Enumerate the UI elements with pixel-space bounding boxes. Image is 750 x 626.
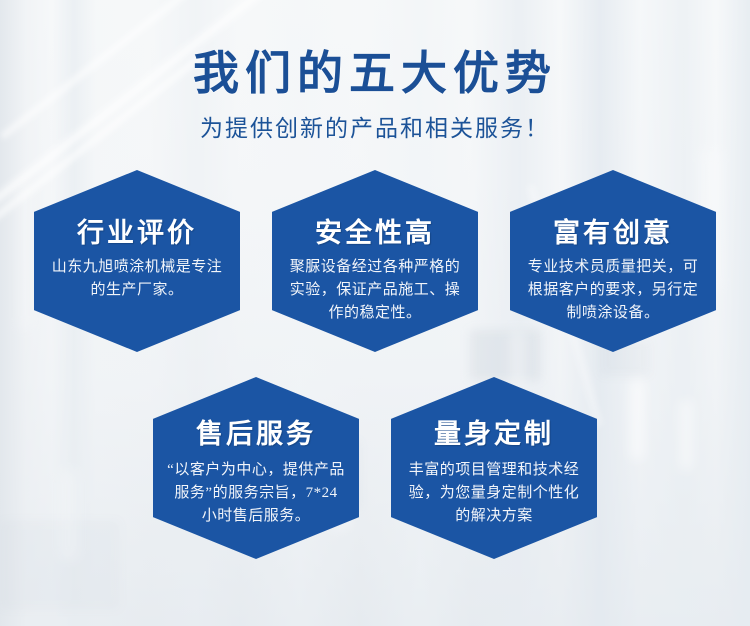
advantage-hexagon-tailor-made: 量身定制 丰富的项目管理和技术经验，为您量身定制个性化的解决方案 <box>391 377 597 559</box>
advantage-description: 聚脲设备经过各种严格的实验，保证产品施工、操作的稳定性。 <box>278 250 472 325</box>
advantage-hexagon-high-safety: 安全性高 聚脲设备经过各种严格的实验，保证产品施工、操作的稳定性。 <box>272 170 478 352</box>
background-shadow-patch <box>0 520 120 610</box>
background-shadow-patch <box>470 330 540 380</box>
advantage-title: 量身定制 <box>397 377 591 451</box>
background-highlight-patch <box>18 180 32 330</box>
advantage-description: “以客户为中心，提供产品服务”的服务宗旨，7*24小时售后服务。 <box>159 451 353 528</box>
background-highlight-patch <box>510 330 526 390</box>
advantage-hexagon-after-sales-service: 售后服务 “以客户为中心，提供产品服务”的服务宗旨，7*24小时售后服务。 <box>153 377 359 559</box>
promo-banner: 我们的五大优势 为提供创新的产品和相关服务！ 行业评价 山东九旭喷涂机械是专注的… <box>0 0 750 626</box>
advantage-description: 山东九旭喷涂机械是专注的生产厂家。 <box>40 250 234 302</box>
background-highlight-patch <box>680 400 692 470</box>
advantage-description: 丰富的项目管理和技术经验，为您量身定制个性化的解决方案 <box>397 451 591 528</box>
page-title: 我们的五大优势 <box>0 0 750 102</box>
advantage-title: 行业评价 <box>40 170 234 250</box>
background-highlight-patch <box>60 470 78 560</box>
advantage-hexagon-creative: 富有创意 专业技术员质量把关，可根据客户的要求，另行定制喷涂设备。 <box>510 170 716 352</box>
advantage-hexagon-industry-reputation: 行业评价 山东九旭喷涂机械是专注的生产厂家。 <box>34 170 240 352</box>
advantage-title: 安全性高 <box>278 170 472 250</box>
banner-header: 我们的五大优势 为提供创新的产品和相关服务！ <box>0 0 750 144</box>
page-subtitle: 为提供创新的产品和相关服务！ <box>0 102 750 144</box>
background-highlight-patch <box>630 380 644 460</box>
advantage-description: 专业技术员质量把关，可根据客户的要求，另行定制喷涂设备。 <box>516 250 710 325</box>
advantage-title: 售后服务 <box>159 377 353 451</box>
advantage-title: 富有创意 <box>516 170 710 250</box>
